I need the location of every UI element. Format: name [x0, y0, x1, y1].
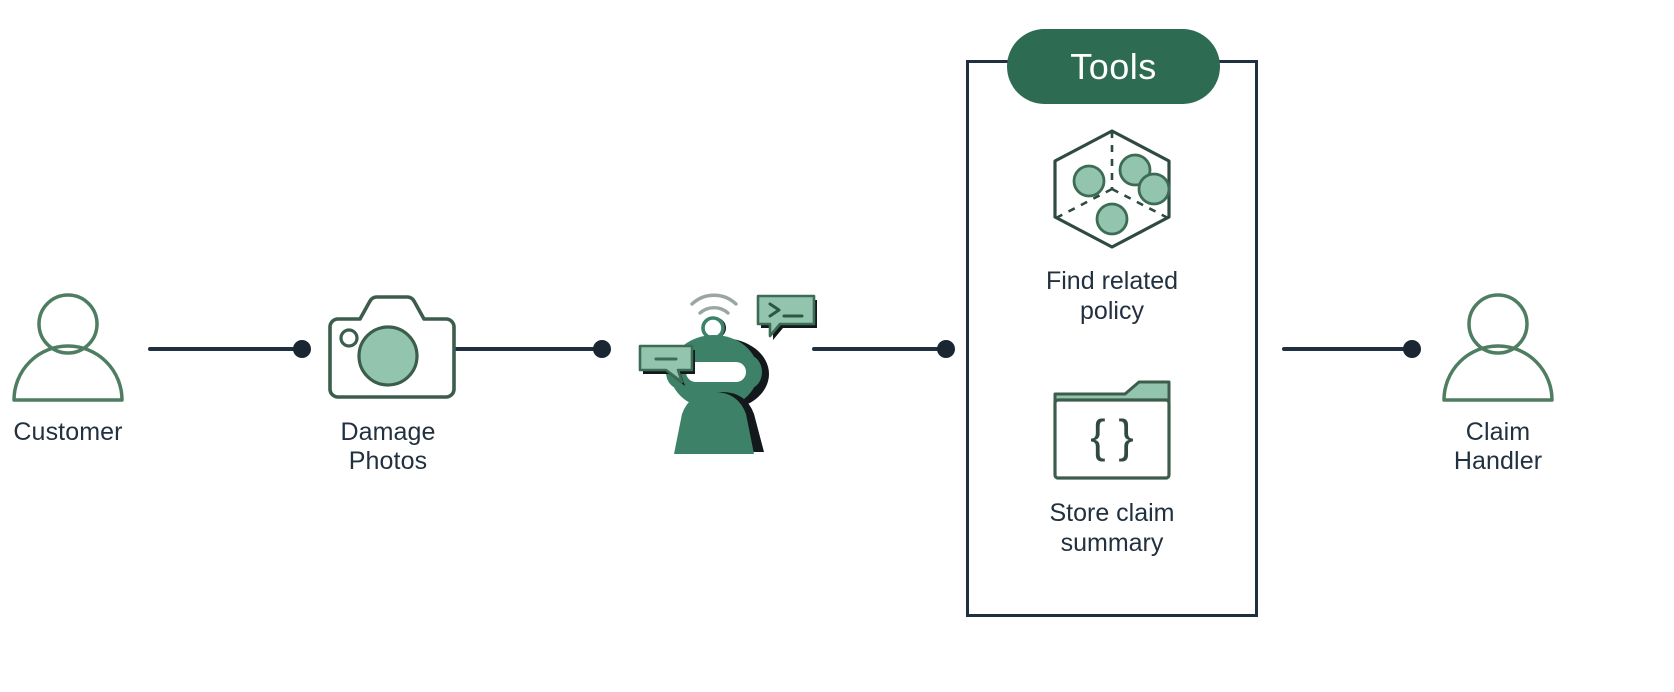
terminal-bubble-icon	[752, 288, 824, 346]
tool-label-find-related-policy: Find related policy	[1046, 266, 1178, 326]
node-label-damage-photos: Damage Photos	[340, 418, 435, 476]
node-customer[interactable]: Customer	[8, 292, 128, 447]
node-claim-handler[interactable]: Claim Handler	[1438, 292, 1558, 476]
tools-panel-header-label: Tools	[1070, 46, 1157, 88]
camera-icon	[322, 292, 454, 404]
node-label-customer: Customer	[13, 418, 122, 447]
connector-photos-to-agent	[448, 334, 618, 364]
tool-item-store-claim-summary[interactable]: { } Store claim summary	[982, 378, 1242, 558]
svg-text:{ }: { }	[1090, 410, 1134, 462]
chat-bubble-left-icon	[632, 334, 700, 386]
diagram-canvas: Customer Damage Photos	[0, 0, 1674, 692]
tools-panel-header: Tools	[1007, 29, 1220, 104]
node-damage-photos[interactable]: Damage Photos	[322, 292, 454, 476]
node-agent[interactable]	[630, 262, 810, 446]
tool-item-find-related-policy[interactable]: Find related policy	[982, 128, 1242, 326]
connector-customer-to-photos	[148, 334, 318, 364]
person-icon	[8, 292, 128, 404]
connector-agent-to-tools	[812, 334, 962, 364]
tool-label-store-claim-summary: Store claim summary	[1049, 498, 1174, 558]
hexagon-nodes-icon	[1048, 128, 1176, 250]
connector-tools-to-handler	[1282, 334, 1432, 364]
node-label-claim-handler: Claim Handler	[1454, 418, 1542, 476]
person-icon	[1438, 292, 1558, 404]
folder-json-icon: { }	[1051, 378, 1173, 482]
